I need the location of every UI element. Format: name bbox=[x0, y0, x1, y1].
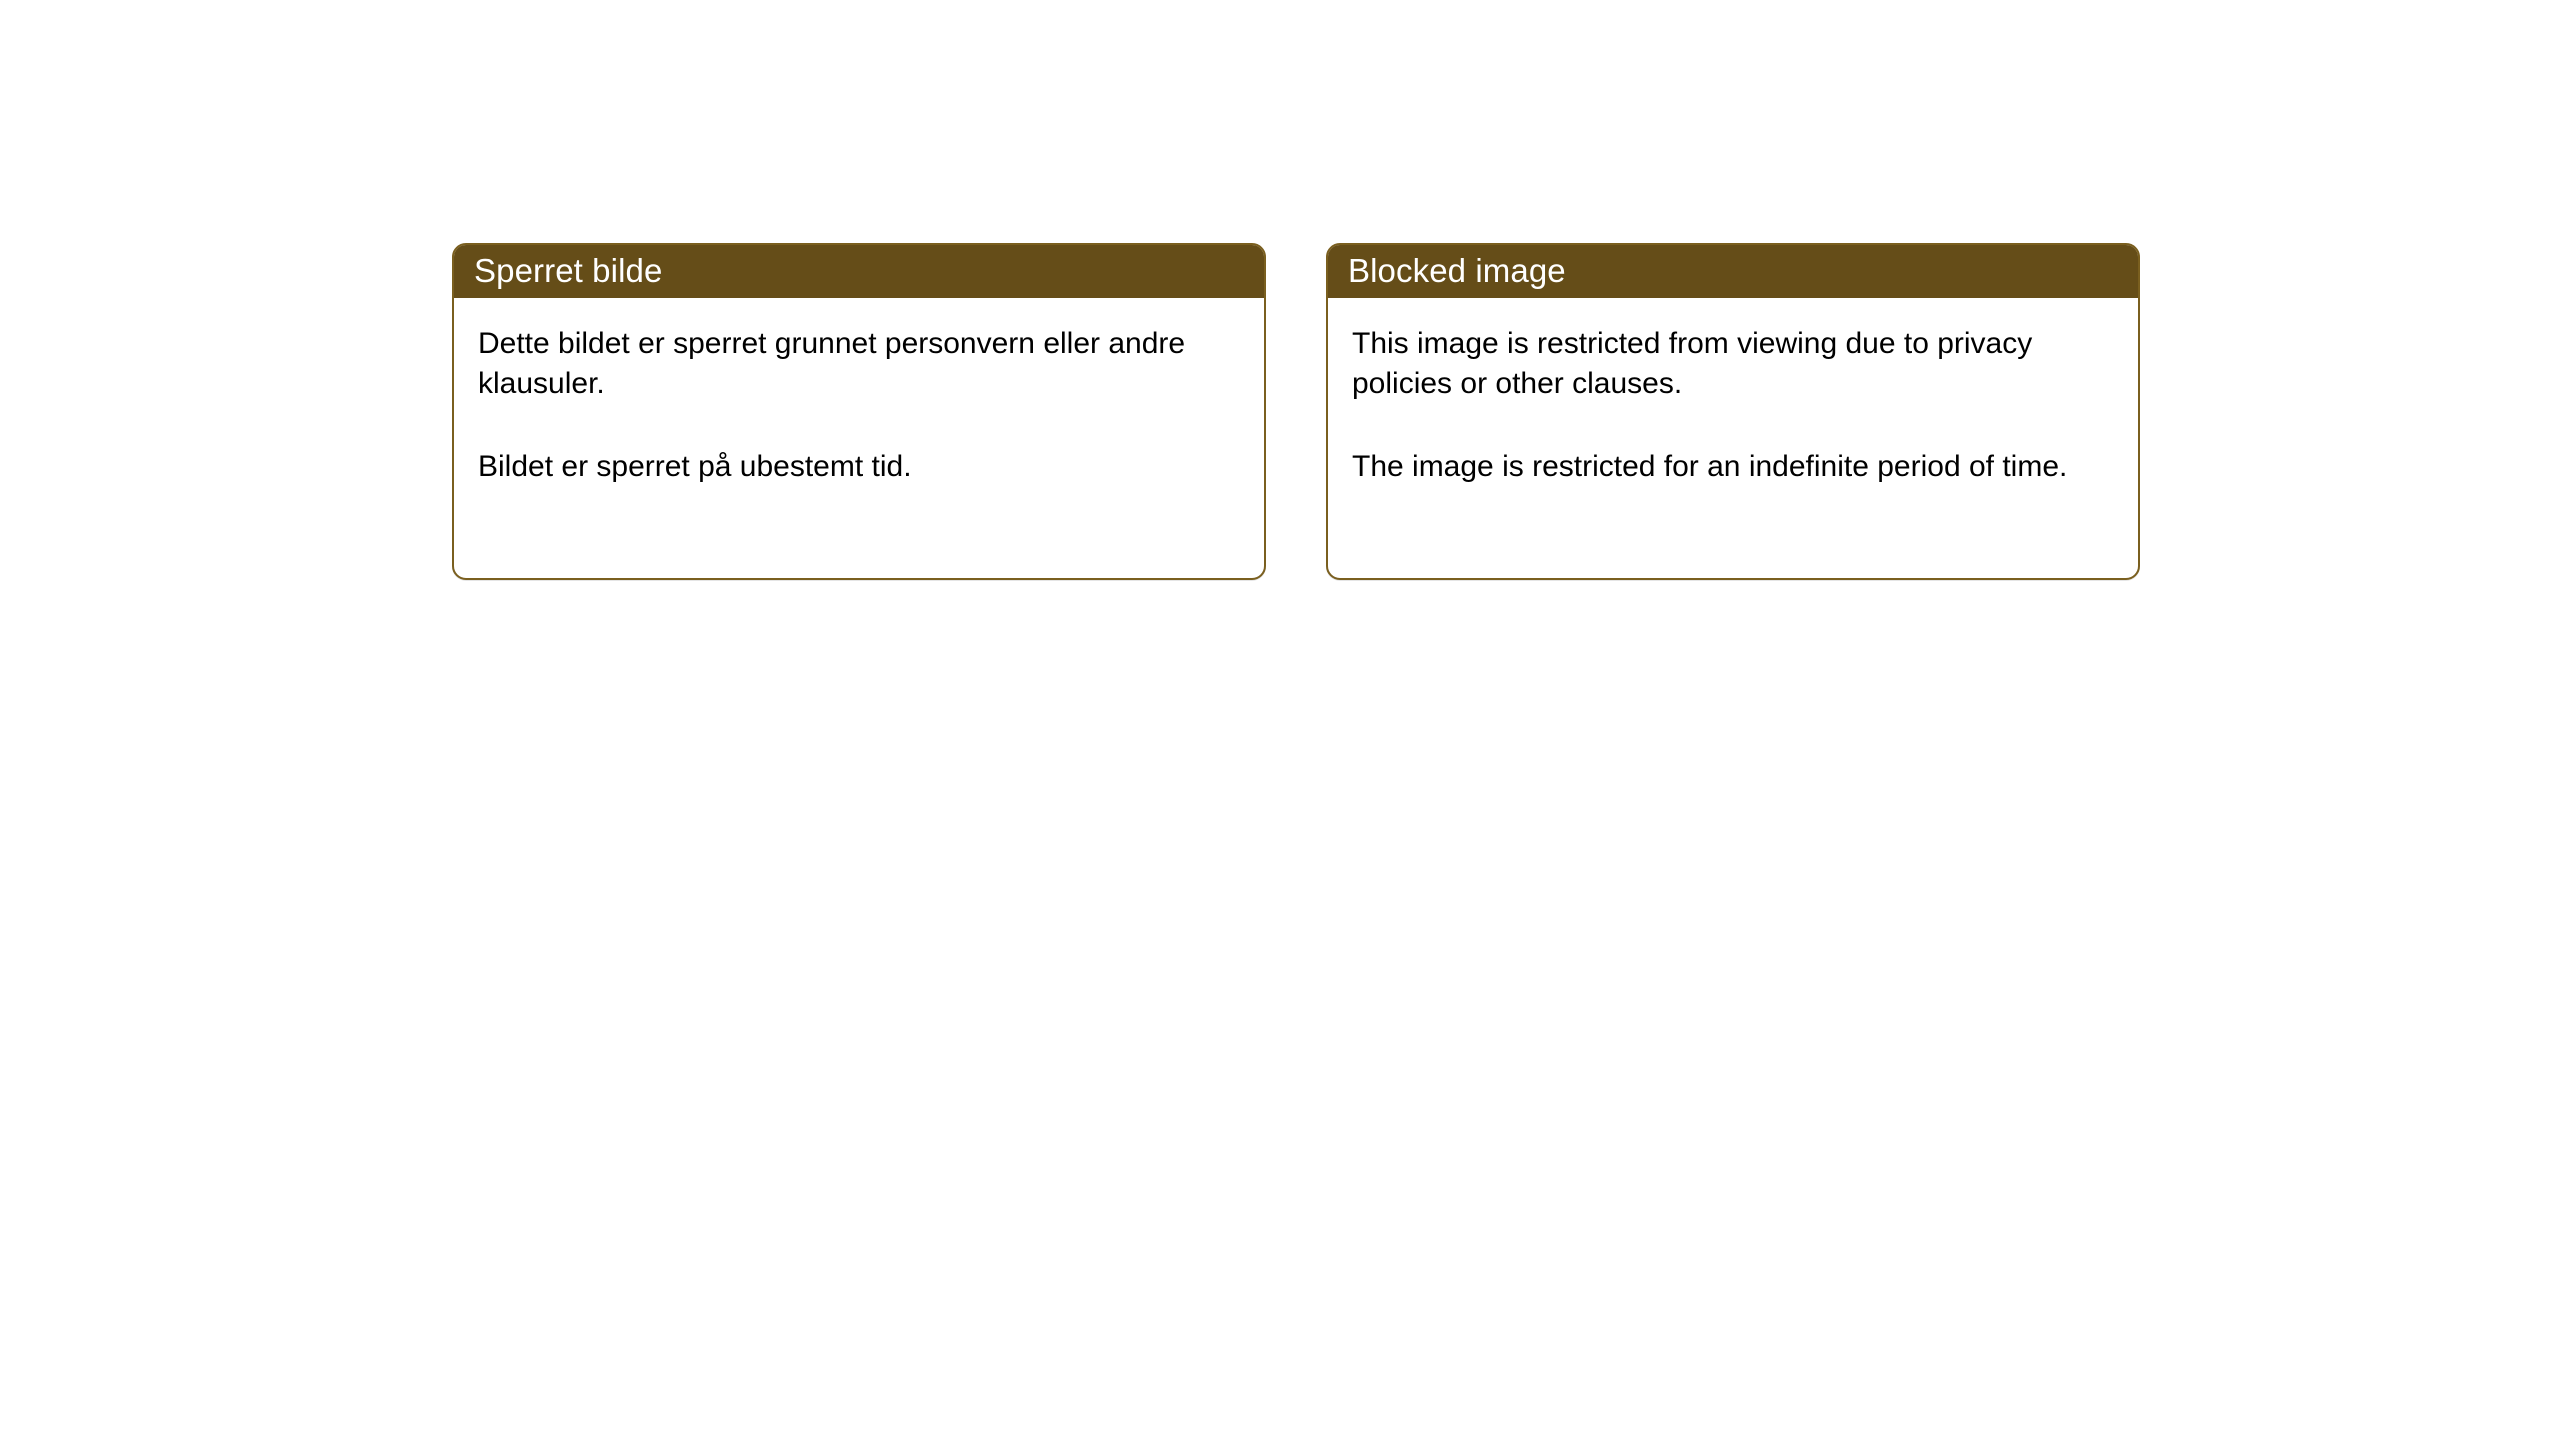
blocked-image-card-english: Blocked image This image is restricted f… bbox=[1326, 243, 2140, 580]
card-paragraph-duration-english: The image is restricted for an indefinit… bbox=[1352, 447, 2112, 487]
card-header-norwegian: Sperret bilde bbox=[452, 243, 1266, 298]
card-header-english: Blocked image bbox=[1326, 243, 2140, 298]
blocked-image-notice-area: Sperret bilde Dette bildet er sperret gr… bbox=[452, 243, 2140, 580]
card-title-norwegian: Sperret bilde bbox=[474, 254, 662, 287]
card-body-english: This image is restricted from viewing du… bbox=[1328, 298, 2138, 578]
card-body-norwegian: Dette bildet er sperret grunnet personve… bbox=[454, 298, 1264, 578]
card-paragraph-duration-norwegian: Bildet er sperret på ubestemt tid. bbox=[478, 447, 1238, 487]
blocked-image-card-norwegian: Sperret bilde Dette bildet er sperret gr… bbox=[452, 243, 1266, 580]
card-title-english: Blocked image bbox=[1348, 254, 1566, 287]
card-paragraph-reason-english: This image is restricted from viewing du… bbox=[1352, 324, 2112, 403]
card-paragraph-reason-norwegian: Dette bildet er sperret grunnet personve… bbox=[478, 324, 1238, 403]
